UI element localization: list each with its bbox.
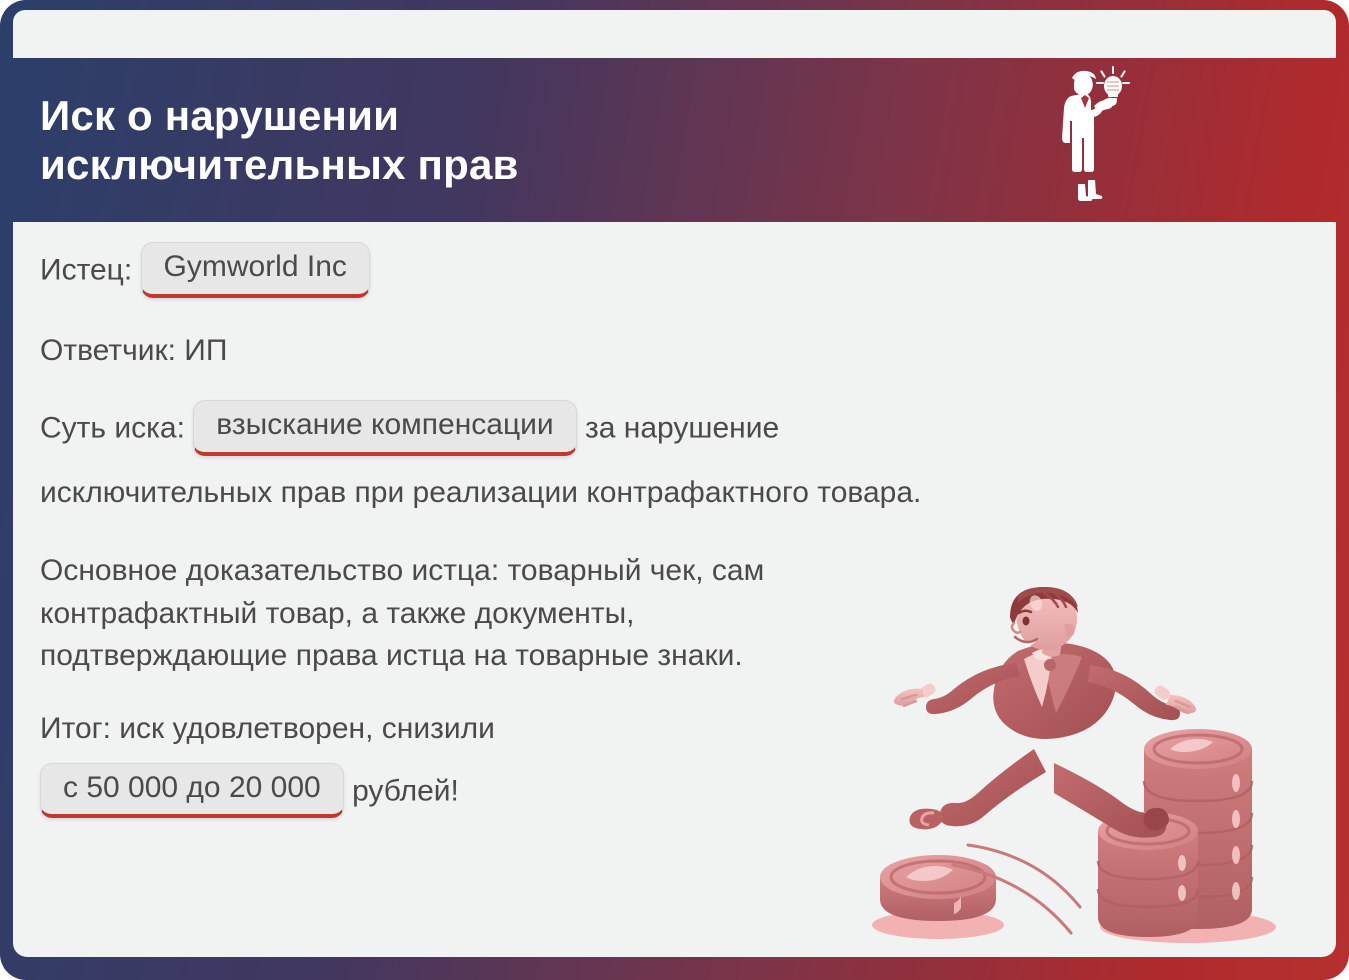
result-pill[interactable]: с 50 000 до 20 000 xyxy=(40,763,344,819)
claim-tail: за нарушение xyxy=(585,412,779,445)
content-body: Истец: Gymworld Inc Ответчик: ИП Суть ис… xyxy=(13,222,1336,820)
claim-label: Суть иска: xyxy=(40,412,185,445)
page-title: Иск о нарушении исключительных прав xyxy=(13,91,519,189)
card-content: Истец: Gymworld Inc Ответчик: ИП Суть ис… xyxy=(13,222,1336,957)
claim-pill[interactable]: взыскание компенсации xyxy=(193,400,576,456)
card-header: Иск о нарушении исключительных прав xyxy=(13,58,1336,222)
result-pill-row: с 50 000 до 20 000 рублей! xyxy=(40,765,1336,821)
result-row: Итог: иск удовлетворен, снизили с 50 000… xyxy=(40,708,1336,820)
claim-rest-text: исключительных прав при реализации контр… xyxy=(40,472,1080,515)
defendant-text: Ответчик: ИП xyxy=(40,330,1080,373)
result-tail: рублей! xyxy=(352,774,459,807)
infographic-card: Иск о нарушении исключительных прав xyxy=(0,0,1349,980)
plaintiff-pill[interactable]: Gymworld Inc xyxy=(141,242,370,298)
top-strip xyxy=(13,10,1336,58)
evidence-text: Основное доказательство истца: товарный … xyxy=(40,550,870,678)
plaintiff-label: Истец: xyxy=(40,254,132,287)
claim-row: Суть иска: взыскание компенсации за нару… xyxy=(40,402,1336,458)
result-label: Итог: иск удовлетворен, снизили xyxy=(40,708,1336,751)
man-with-lightbulb-icon xyxy=(1050,62,1140,212)
plaintiff-row: Истец: Gymworld Inc xyxy=(40,244,1336,300)
